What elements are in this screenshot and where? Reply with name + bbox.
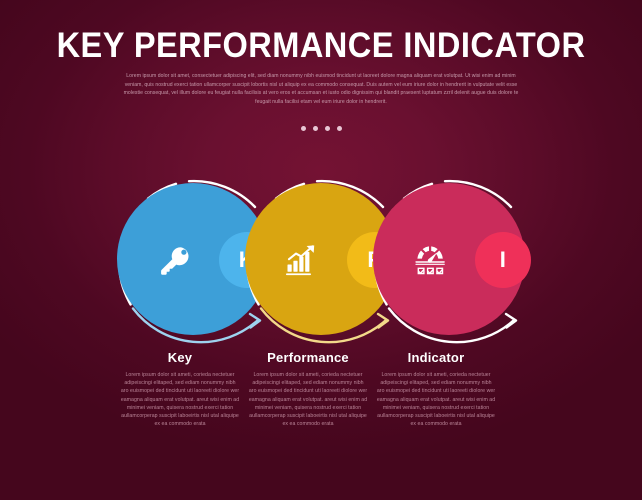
separator-dot (337, 126, 342, 131)
column-body-indicator: Lorem ipsum dolor sit ameti, corieda nec… (376, 371, 496, 428)
description-column-indicator: Indicator Lorem ipsum dolor sit ameti, c… (376, 350, 496, 428)
gauge-checklist-icon (403, 232, 459, 288)
page-title: KEY PERFORMANCE INDICATOR (22, 26, 619, 66)
column-heading-indicator: Indicator (376, 350, 496, 365)
separator-dot (301, 126, 306, 131)
infographic-canvas: KEY PERFORMANCE INDICATOR Lorem ipsum do… (0, 0, 642, 500)
step-circle-row: K (0, 170, 642, 350)
intro-paragraph: Lorem ipsum dolor sit amet, consectetuer… (121, 72, 521, 106)
description-column-key: Key Lorem ipsum dolor sit ameti, corieda… (120, 350, 240, 428)
key-icon (147, 232, 203, 288)
description-column-performance: Performance Lorem ipsum dolor sit ameti,… (248, 350, 368, 428)
step-badge-indicator[interactable]: I (475, 232, 531, 288)
growth-chart-icon (275, 232, 331, 288)
separator-dot (313, 126, 318, 131)
column-body-performance: Lorem ipsum dolor sit ameti, corieda nec… (248, 371, 368, 428)
column-body-key: Lorem ipsum dolor sit ameti, corieda nec… (120, 371, 240, 428)
separator-dot (325, 126, 330, 131)
column-heading-key: Key (120, 350, 240, 365)
step-unit-indicator[interactable]: I (359, 170, 549, 350)
column-heading-performance: Performance (248, 350, 368, 365)
dot-separator (0, 126, 642, 131)
